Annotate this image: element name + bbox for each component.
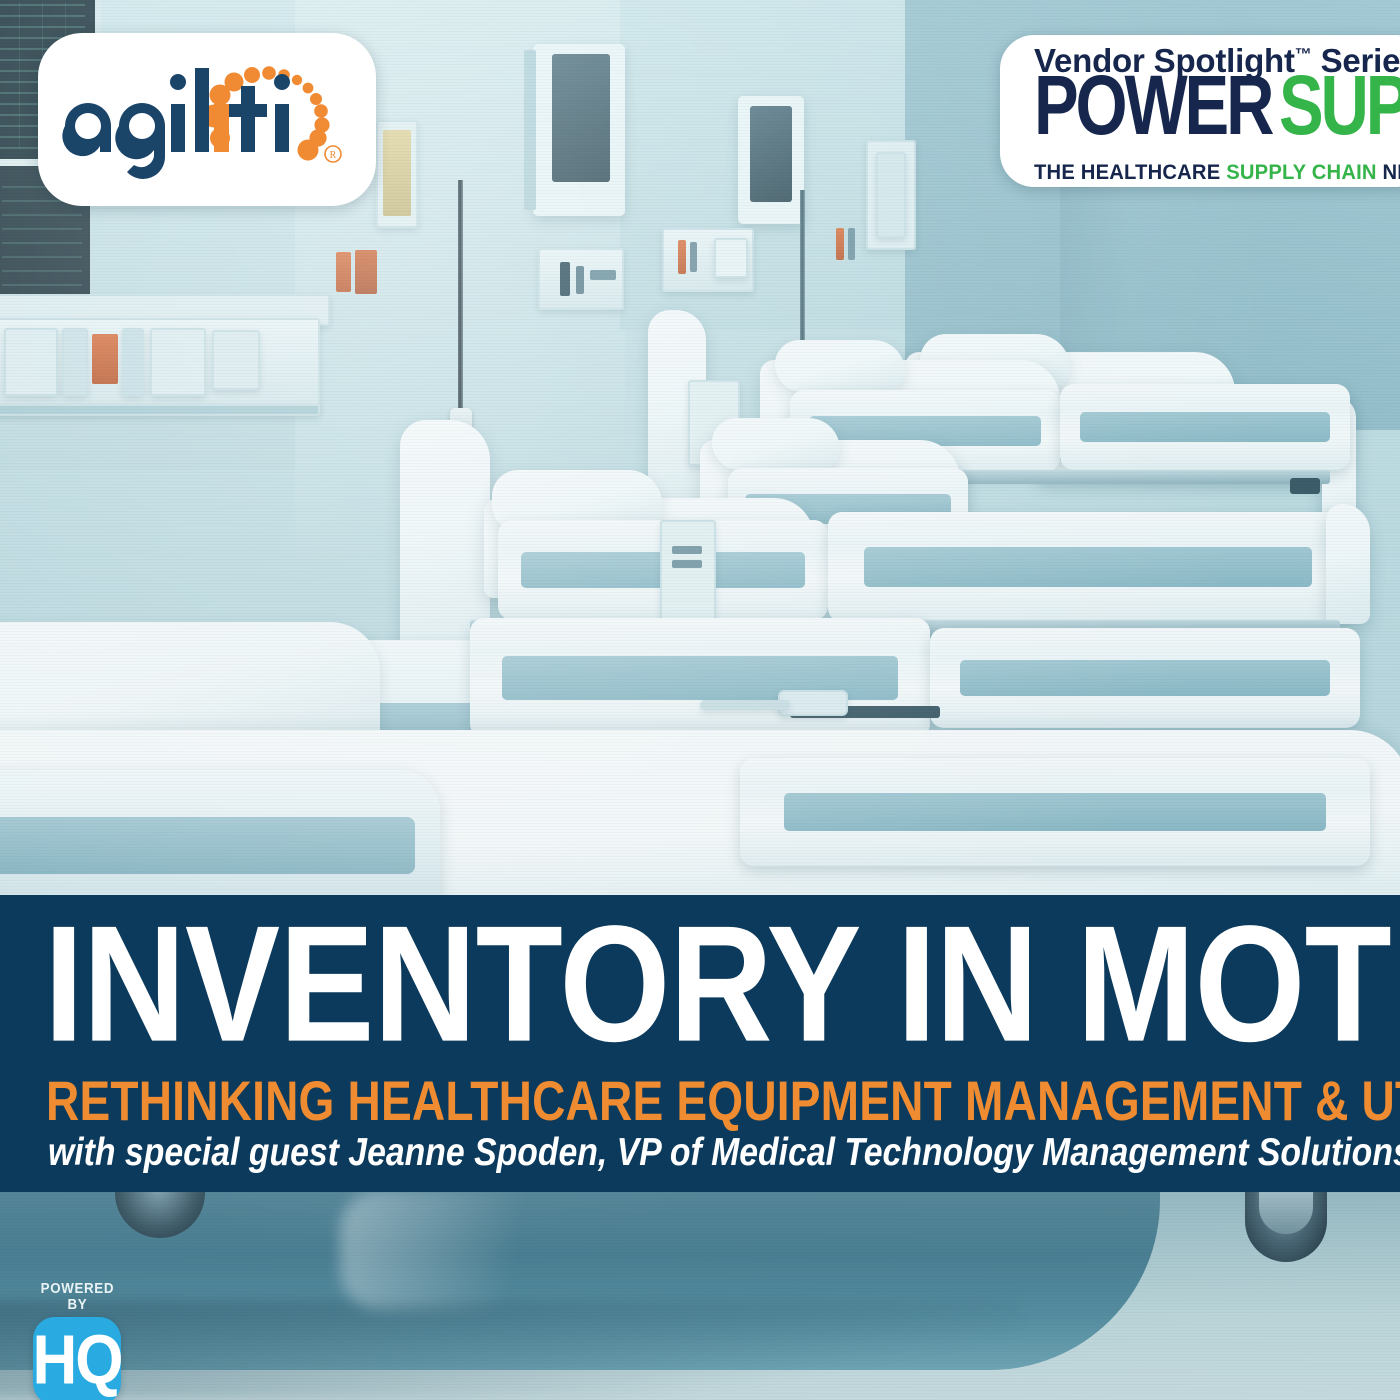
podcast-cover-artwork: R Vendor Spotlight™ Series POWERSUPPLY T… xyxy=(0,0,1400,1400)
floor-shadow xyxy=(0,1300,1020,1400)
supply-slot-red xyxy=(92,334,118,384)
wall-supply-item-2 xyxy=(576,266,584,294)
svg-text:R: R xyxy=(330,150,337,161)
bed-rail-mid-b xyxy=(1060,384,1350,470)
bed-rail-foreground xyxy=(470,618,930,738)
wall-card-2-inner xyxy=(876,152,906,238)
wall-supply-item-3 xyxy=(590,270,616,280)
supply-panel-left-base xyxy=(0,404,320,416)
page-subtitle: RETHINKING HEALTHCARE EQUIPMENT MANAGEME… xyxy=(46,1073,1349,1128)
supply-slot-5 xyxy=(212,330,260,390)
tagline-part-2: SUPPLY CHAIN xyxy=(1226,160,1382,184)
supply-slot-1 xyxy=(4,328,58,396)
wall-supply-item-5 xyxy=(690,242,697,272)
bed-rail-foreground-right xyxy=(930,628,1360,728)
wall-outlet-red-2 xyxy=(355,250,377,294)
powered-by-label: POWERED BY xyxy=(36,1281,119,1313)
agiliti-logo: R xyxy=(57,60,357,180)
hq-logo-tile: HQ xyxy=(33,1317,121,1400)
bed-caster-right xyxy=(1245,1182,1327,1262)
hq-logo-letters: HQ xyxy=(33,1332,122,1390)
bed-rail-near-b xyxy=(828,512,1348,622)
agiliti-logo-badge: R xyxy=(38,33,376,206)
wall-screen-2 xyxy=(750,106,792,202)
guest-credit-line: with special guest Jeanne Spoden, VP of … xyxy=(48,1133,1331,1172)
power-supply-logo: POWERSUPPLY xyxy=(1034,81,1400,145)
power-supply-tagline: THE HEALTHCARE SUPPLY CHAIN NETWORK⟩⟩ xyxy=(1034,158,1382,185)
tagline-part-1: THE HEALTHCARE xyxy=(1034,160,1226,184)
registered-mark-icon: R xyxy=(325,146,341,162)
bed-pillow-mid2 xyxy=(712,418,840,470)
supply-slot-3 xyxy=(122,328,144,396)
bed-control-panel-near xyxy=(660,520,716,620)
wall-screen-1 xyxy=(552,54,610,182)
bed-control-button-1 xyxy=(672,546,702,554)
bed-detail-mid xyxy=(1290,478,1320,494)
dispenser-label xyxy=(383,130,411,216)
supply-slot-2 xyxy=(62,328,88,396)
wall-card-1 xyxy=(714,238,748,278)
wall-outlet-red-1 xyxy=(336,252,351,292)
wall-supply-item-6 xyxy=(836,228,844,260)
logo-power-text: POWER xyxy=(1034,67,1271,145)
bed-rail-front xyxy=(740,758,1370,866)
wall-supply-item-1 xyxy=(560,262,570,296)
page-title: INVENTORY IN MOTION: xyxy=(44,906,1252,1063)
agiliti-wordmark-icon: R xyxy=(57,60,357,180)
bed-cable xyxy=(700,700,790,710)
bed-control-button-2 xyxy=(672,560,702,568)
wall-supply-item-7 xyxy=(848,228,855,260)
wall-supply-item-4 xyxy=(678,240,686,274)
floor-reflection xyxy=(340,1190,580,1310)
bed-headboard-near-right xyxy=(1326,504,1370,624)
powered-by-hq-badge: POWERED BY HQ xyxy=(33,1281,145,1400)
wall-screen-bracket-1 xyxy=(524,50,536,210)
bed-footboard-front xyxy=(0,770,440,900)
power-supply-series-badge: Vendor Spotlight™ Series POWERSUPPLY THE… xyxy=(1000,35,1400,187)
logo-supply-text: SUPPLY xyxy=(1279,67,1400,145)
tagline-part-3: NETWORK xyxy=(1383,160,1400,184)
bed-pillow-mid xyxy=(775,340,905,392)
supply-slot-4 xyxy=(150,328,206,396)
